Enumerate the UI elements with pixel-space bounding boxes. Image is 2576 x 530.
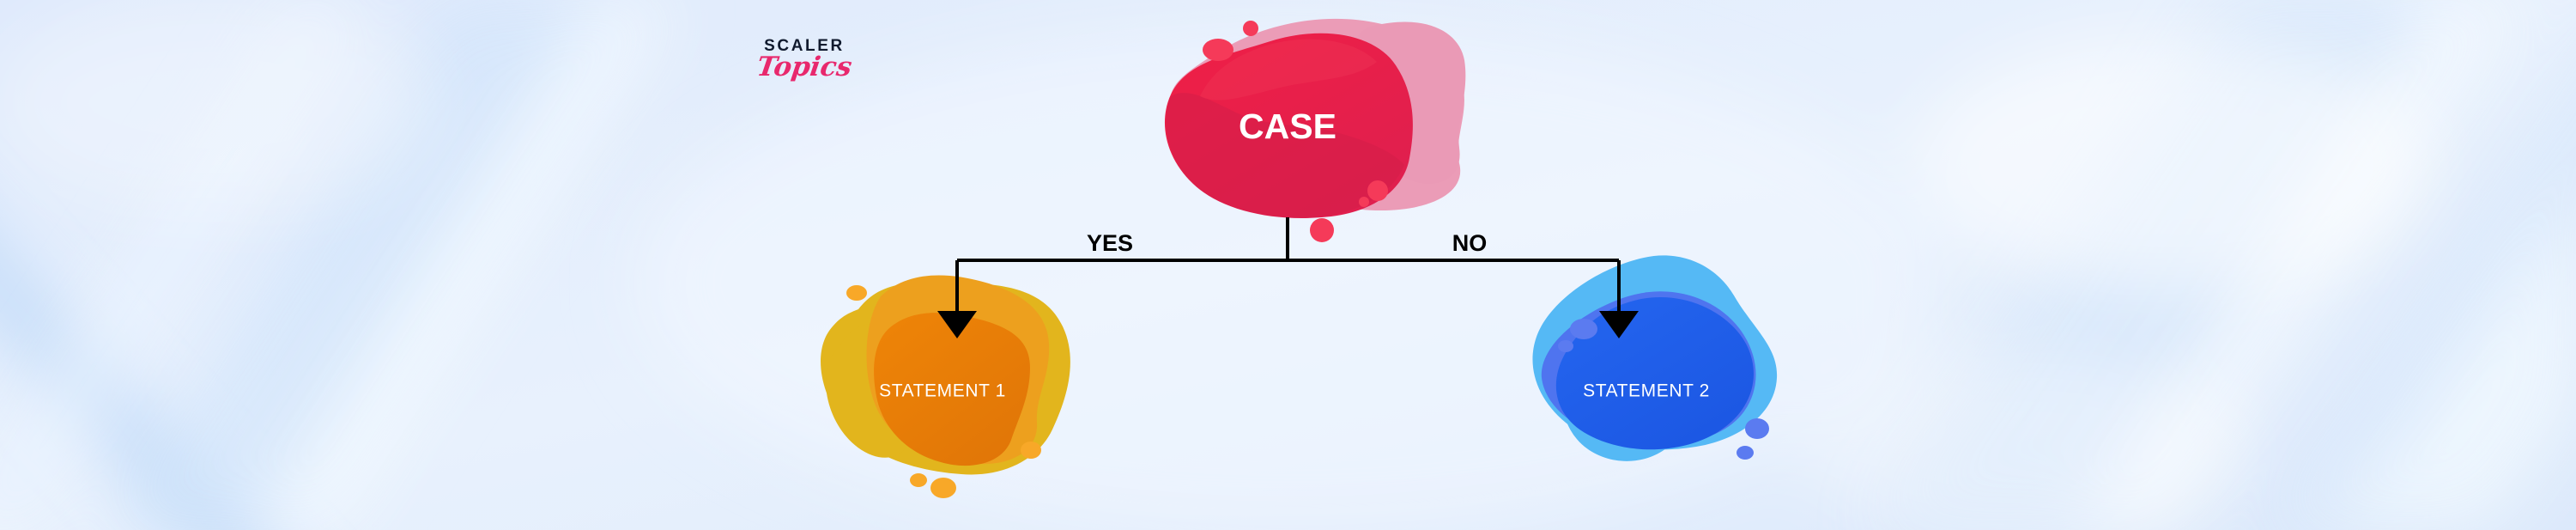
edge-label-no: NO bbox=[1452, 230, 1488, 256]
node-statement-2-dot-3 bbox=[1745, 418, 1769, 439]
node-case-dot-5 bbox=[1310, 218, 1334, 242]
node-statement-1-dot-4 bbox=[1021, 442, 1041, 459]
node-statement-1-dot-2 bbox=[910, 473, 927, 487]
node-case-label: CASE bbox=[1239, 107, 1336, 146]
node-statement-2-dot-1 bbox=[1570, 319, 1597, 339]
node-case-dot-1 bbox=[1203, 39, 1233, 61]
node-case-dot-2 bbox=[1243, 21, 1258, 36]
edge-label-yes: YES bbox=[1087, 230, 1133, 256]
node-case[interactable]: CASE bbox=[1165, 19, 1465, 242]
node-statement-2[interactable]: STATEMENT 2 bbox=[1532, 255, 1777, 460]
flowchart: CASE STATEMENT 1 bbox=[0, 0, 2576, 530]
connector-lines bbox=[957, 217, 1619, 316]
node-case-dot-3 bbox=[1367, 180, 1388, 201]
node-statement-2-dot-2 bbox=[1558, 340, 1573, 352]
node-statement-1[interactable]: STATEMENT 1 bbox=[821, 275, 1070, 498]
diagram-canvas: SCALER Topics bbox=[0, 0, 2576, 530]
node-statement-1-dot-3 bbox=[930, 478, 956, 498]
node-case-dot-4 bbox=[1359, 197, 1369, 207]
node-statement-1-dot-1 bbox=[846, 285, 867, 301]
node-statement-1-label: STATEMENT 1 bbox=[879, 381, 1006, 401]
node-statement-2-label: STATEMENT 2 bbox=[1583, 381, 1710, 401]
node-statement-2-dot-4 bbox=[1737, 446, 1754, 460]
